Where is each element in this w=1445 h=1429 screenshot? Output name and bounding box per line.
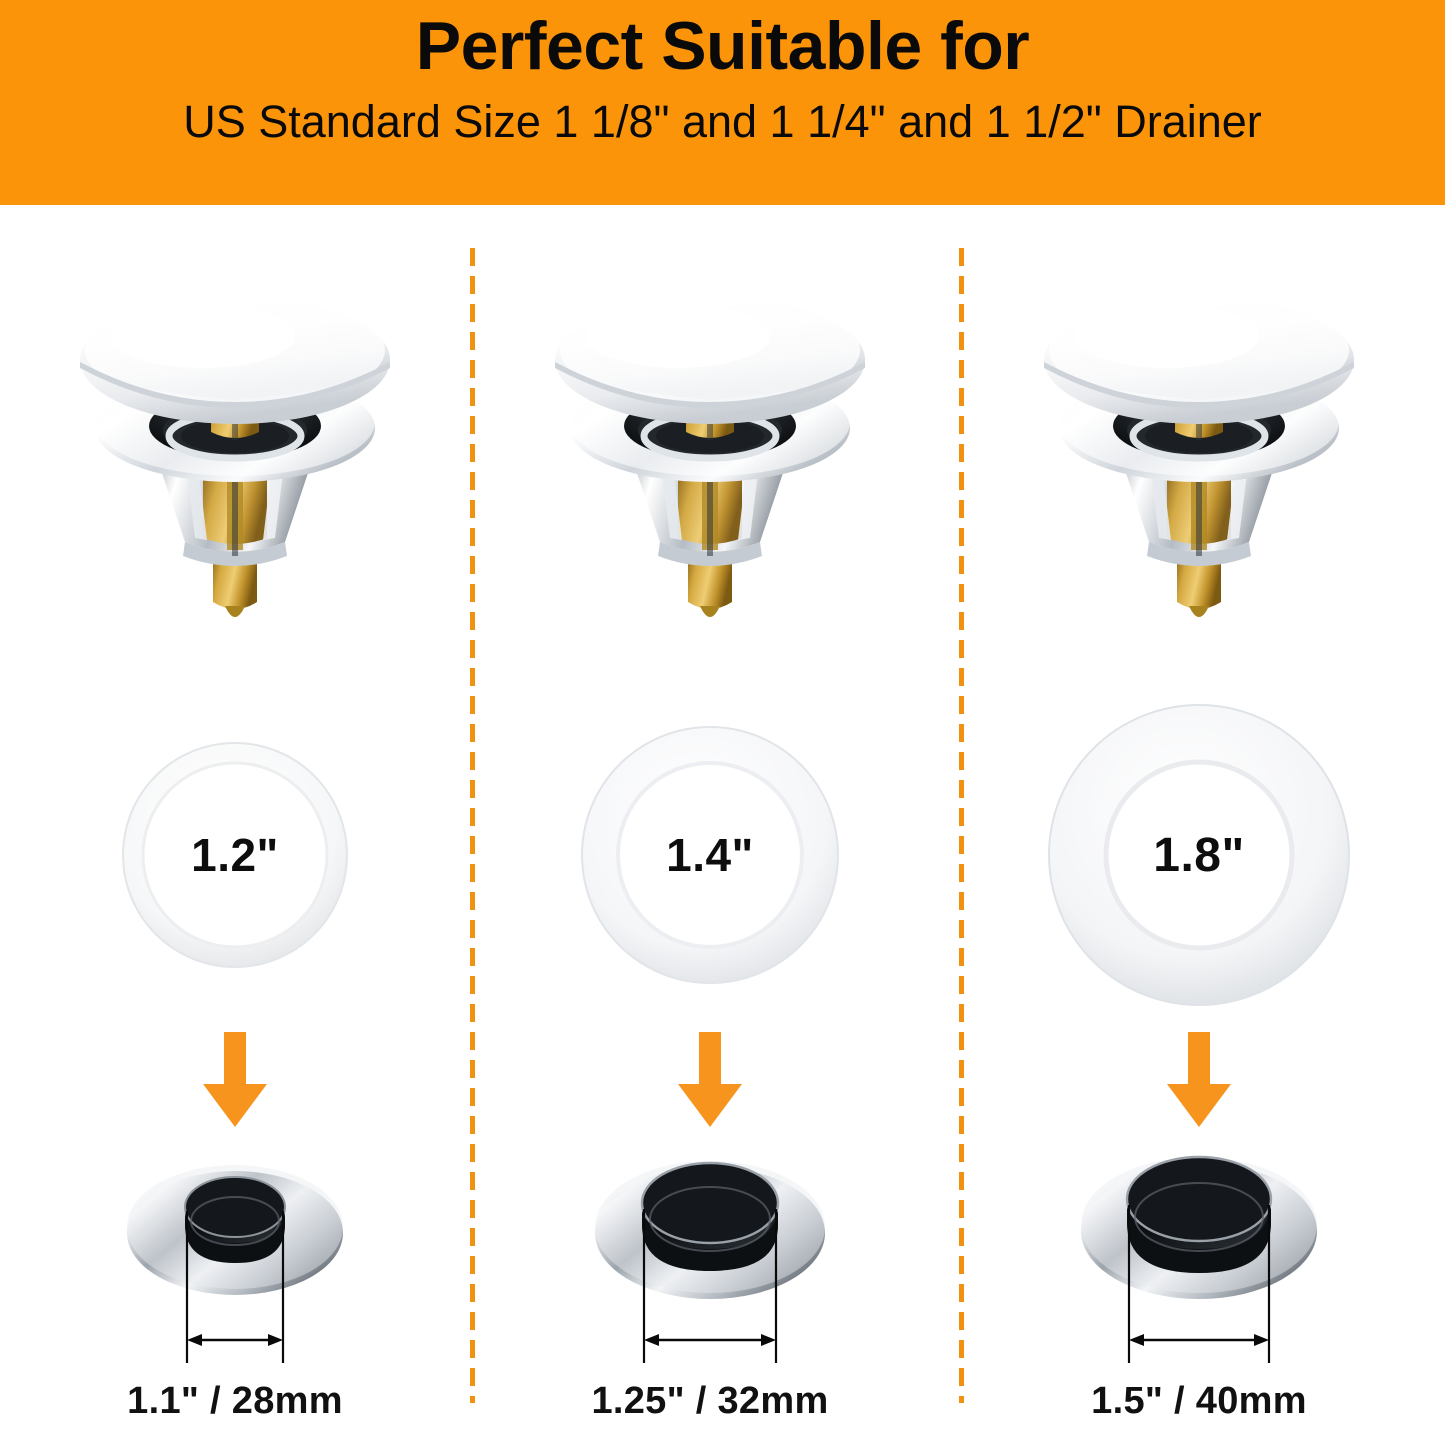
gasket-ring-icon (1043, 699, 1355, 1011)
size-caption-label-2: 1.25" / 32mm (591, 1380, 828, 1423)
page-subtitle: US Standard Size 1 1/8" and 1 1/4" and 1… (183, 97, 1262, 147)
product-image-3 (964, 235, 1434, 665)
caption-2: 1.25" / 32mm (475, 1373, 945, 1429)
sink-drain-stopper-icon (510, 250, 910, 650)
gasket-image-1: 1.2" (0, 695, 470, 1015)
page-title: Perfect Suitable for (416, 10, 1030, 83)
size-caption-label-3: 1.5" / 40mm (1091, 1380, 1307, 1423)
product-infographic: Perfect Suitable for US Standard Size 1 … (0, 0, 1445, 1429)
down-arrow-icon (1163, 1030, 1235, 1130)
sink-drain-stopper-icon (999, 250, 1399, 650)
caption-1: 1.1" / 28mm (0, 1373, 470, 1429)
size-column-2: 1.4" 1.25 (475, 205, 945, 1429)
size-caption-label-1: 1.1" / 28mm (127, 1380, 343, 1423)
size-column-3: 1.8" 1.5" (964, 205, 1434, 1429)
sink-drain-stopper-icon (35, 250, 435, 650)
gasket-ring-icon (115, 735, 355, 975)
product-image-2 (475, 235, 945, 665)
arrow-2 (475, 1020, 945, 1140)
down-arrow-icon (199, 1030, 271, 1130)
sink-drain-hole-icon (560, 1145, 860, 1380)
drain-hole-image-2 (475, 1145, 945, 1380)
arrow-1 (0, 1020, 470, 1140)
down-arrow-icon (674, 1030, 746, 1130)
header-banner: Perfect Suitable for US Standard Size 1 … (0, 0, 1445, 205)
product-image-1 (0, 235, 470, 665)
sink-drain-hole-icon (90, 1145, 380, 1380)
arrow-3 (964, 1020, 1434, 1140)
sink-drain-hole-icon (1049, 1145, 1349, 1380)
caption-3: 1.5" / 40mm (964, 1373, 1434, 1429)
gasket-image-2: 1.4" (475, 695, 945, 1015)
gasket-image-3: 1.8" (964, 695, 1434, 1015)
gasket-ring-icon (574, 719, 846, 991)
drain-hole-image-1 (0, 1145, 470, 1380)
size-column-1: 1.2" (0, 205, 470, 1429)
drain-hole-image-3 (964, 1145, 1434, 1380)
